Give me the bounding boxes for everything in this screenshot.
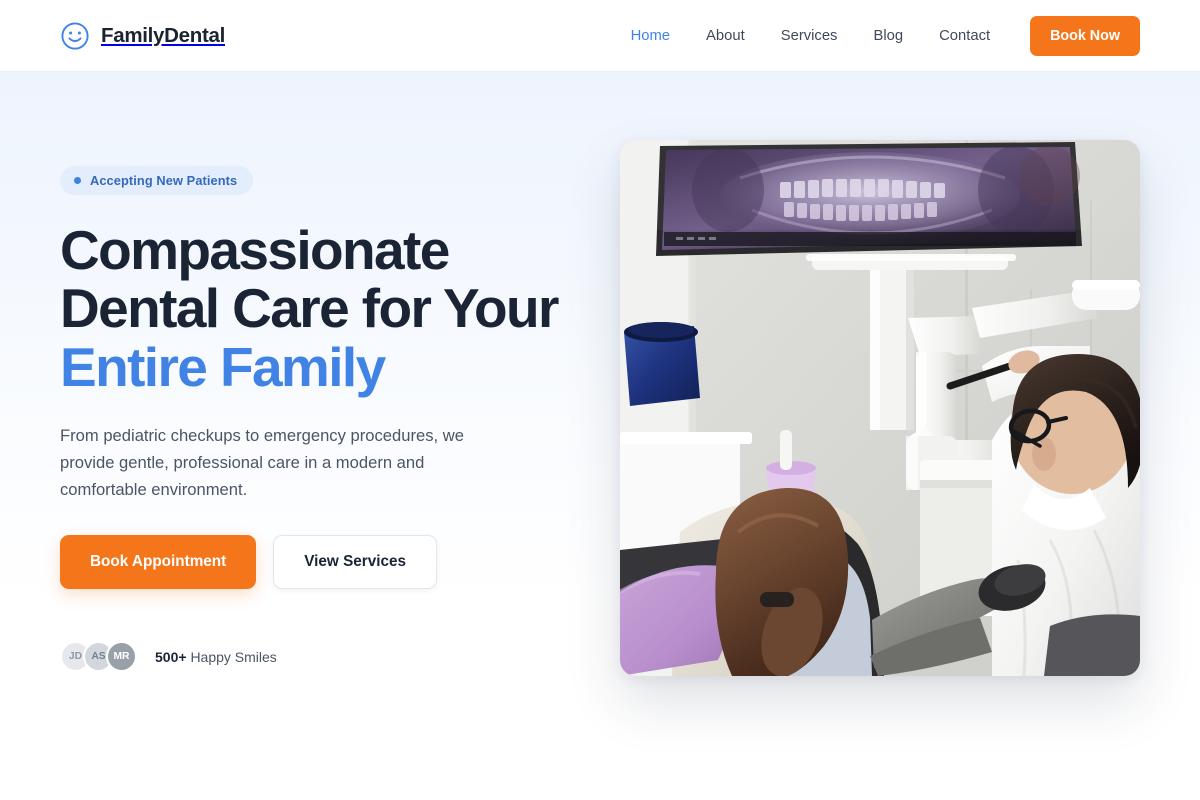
badge-dot-icon [74,177,81,184]
hero-section: Accepting New Patients Compassionate Den… [0,72,1200,800]
site-header: FamilyDental Home About Services Blog Co… [0,0,1200,72]
happy-smiles-number: 500+ [155,649,187,665]
hero-actions: Book Appointment View Services [60,535,600,589]
hero-content: Accepting New Patients Compassionate Den… [60,72,600,672]
book-now-button[interactable]: Book Now [1030,16,1140,56]
nav-item-services[interactable]: Services [763,28,856,44]
nav-item-blog[interactable]: Blog [855,28,921,44]
book-appointment-button[interactable]: Book Appointment [60,535,256,589]
view-services-button[interactable]: View Services [273,535,437,589]
nav-item-contact[interactable]: Contact [921,28,1008,44]
dental-office-photo [620,140,1140,676]
badge-label: Accepting New Patients [90,173,237,188]
hero-image [620,140,1140,676]
hero-title-line-2: Dental Care for Your [60,277,558,339]
nav-item-about[interactable]: About [688,28,763,44]
happy-smiles-count: 500+ Happy Smiles [155,649,277,665]
hero-title-line-3-accent: Entire Family [60,336,385,398]
landing-page: FamilyDental Home About Services Blog Co… [0,0,1200,800]
avatar-group: JD AS MR [60,641,129,672]
status-badge: Accepting New Patients [60,166,253,195]
nav-item-home[interactable]: Home [613,28,688,44]
page-title: Compassionate Dental Care for Your Entir… [60,221,600,396]
smiley-face-icon [60,21,90,51]
brand-name: FamilyDental [101,24,225,48]
happy-smiles-label: Happy Smiles [190,649,276,665]
avatar: MR [106,641,137,672]
brand-logo-link[interactable]: FamilyDental [60,21,225,51]
hero-title-line-1: Compassionate [60,219,449,281]
hero-subtitle: From pediatric checkups to emergency pro… [60,422,512,503]
main-navigation: Home About Services Blog Contact Book No… [613,16,1140,56]
social-proof: JD AS MR 500+ Happy Smiles [60,641,600,672]
